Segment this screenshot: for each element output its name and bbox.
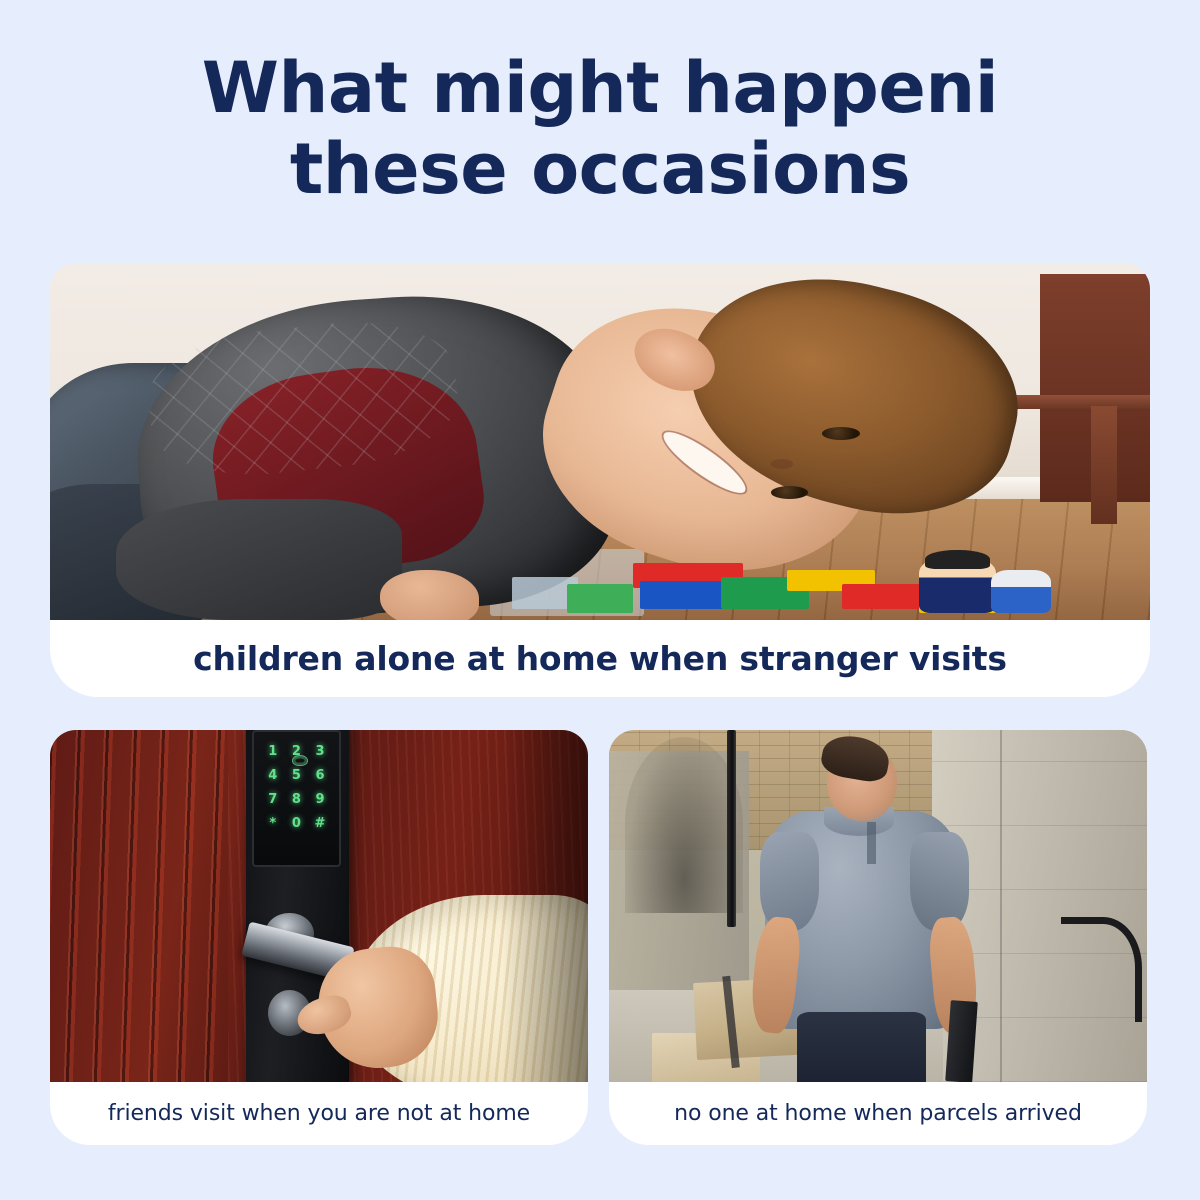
keypad-key-3[interactable]: 3 [315, 745, 324, 758]
courier-shirt-placket [867, 822, 876, 864]
card-friends-visit[interactable]: 1 2 3 4 5 6 7 8 9 * 0 # [50, 730, 588, 1145]
furniture-leg [1091, 406, 1117, 524]
keypad-key-5[interactable]: 5 [292, 769, 301, 782]
caption-friends-visit: friends visit when you are not at home [50, 1082, 588, 1145]
photo-smart-door-lock: 1 2 3 4 5 6 7 8 9 * 0 # [50, 730, 588, 1082]
keypad-key-1[interactable]: 1 [268, 745, 277, 758]
door-panel-mouldings [50, 730, 228, 1082]
page-title-line-1: What might happeni [0, 48, 1200, 129]
caption-children-alone: children alone at home when stranger vis… [50, 620, 1150, 697]
keypad-key-4[interactable]: 4 [268, 769, 277, 782]
keypad-key-8[interactable]: 8 [292, 793, 301, 806]
photo-delivery-man [609, 730, 1147, 1082]
courier-sleeve-right [910, 832, 969, 931]
child-nose [771, 459, 793, 468]
photo-children-alone [50, 263, 1150, 620]
poster-page: What might happeni these occasions [0, 0, 1200, 1200]
child-eye-left [822, 427, 859, 440]
pillar-seam [1000, 730, 1002, 1082]
child-hand [380, 570, 479, 620]
courier-clipboard [945, 1000, 977, 1082]
keypad-key-hash[interactable]: # [315, 817, 326, 830]
fingerprint-icon[interactable] [292, 755, 308, 766]
card-children-alone[interactable]: children alone at home when stranger vis… [50, 263, 1150, 697]
handrail [1061, 917, 1142, 1023]
lego-brick [567, 584, 633, 613]
page-title-line-2: these occasions [0, 129, 1200, 210]
child-eye-right [771, 486, 808, 499]
furniture-top [996, 395, 1150, 409]
arch-shadow [625, 737, 743, 913]
courier-sleeve-left [760, 832, 819, 931]
courier-trousers [797, 1012, 926, 1082]
toy-figure-secondary [991, 570, 1052, 613]
drainpipe [727, 730, 736, 927]
caption-parcels-arrived: no one at home when parcels arrived [609, 1082, 1147, 1145]
card-parcels-arrived[interactable]: no one at home when parcels arrived [609, 730, 1147, 1145]
keypad-key-7[interactable]: 7 [268, 793, 277, 806]
keypad-key-0[interactable]: 0 [292, 817, 301, 830]
keypad-key-6[interactable]: 6 [315, 769, 324, 782]
page-title: What might happeni these occasions [0, 48, 1200, 210]
keypad-key-9[interactable]: 9 [315, 793, 324, 806]
lego-brick [640, 581, 735, 610]
keypad-key-star[interactable]: * [269, 817, 276, 830]
door-shadow [502, 730, 588, 1082]
keypad-panel[interactable]: 1 2 3 4 5 6 7 8 9 * 0 # [252, 730, 340, 867]
child-arm [116, 499, 402, 620]
toy-figure [919, 559, 996, 613]
